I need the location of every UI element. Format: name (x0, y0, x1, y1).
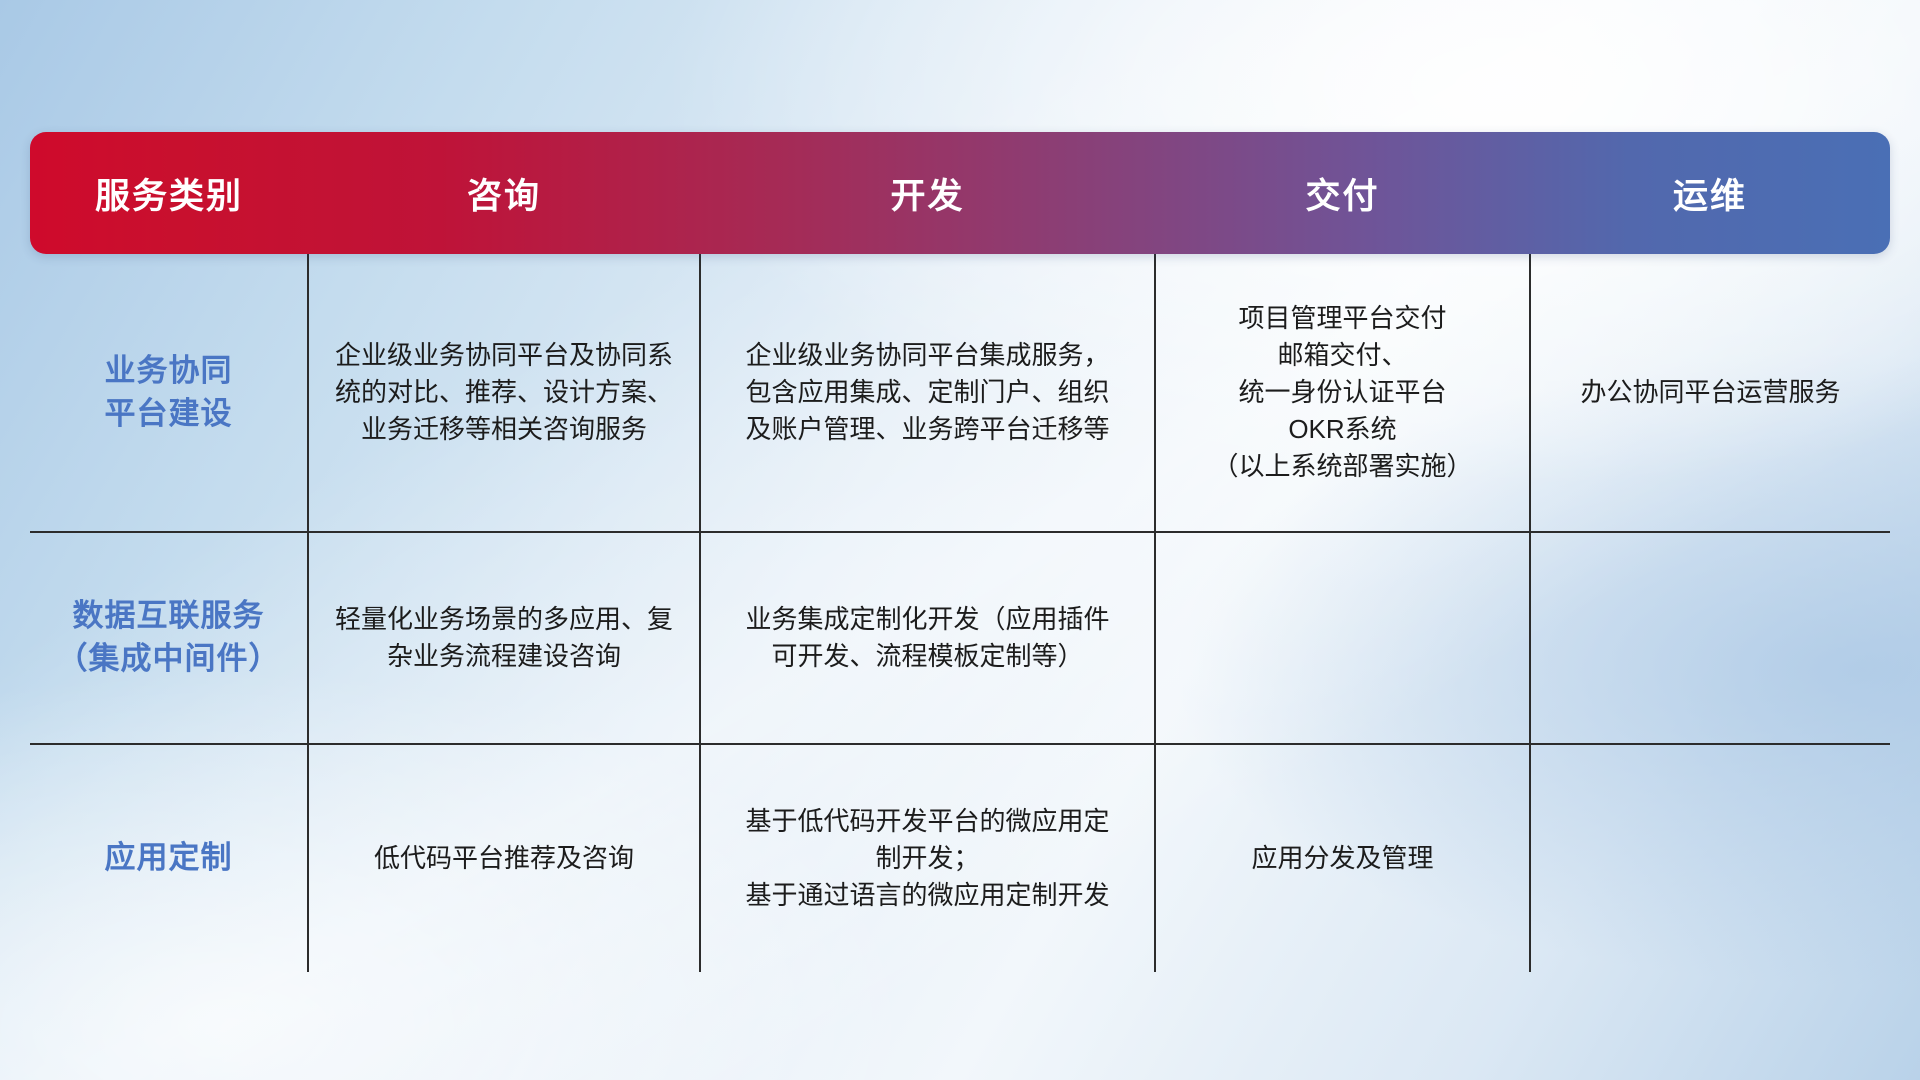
cell-category: 业务协同 平台建设 (30, 254, 308, 532)
cell-line: 包含应用集成、定制门户、组织 (715, 374, 1140, 411)
cell-development: 企业级业务协同平台集成服务， 包含应用集成、定制门户、组织 及账户管理、业务跨平… (700, 254, 1155, 532)
cell-line: 可开发、流程模板定制等） (715, 638, 1140, 675)
cell-development: 业务集成定制化开发（应用插件 可开发、流程模板定制等） (700, 532, 1155, 744)
column-header-operations: 运维 (1530, 132, 1890, 254)
cell-line: 低代码平台推荐及咨询 (323, 840, 685, 877)
cell-line: 基于通过语言的微应用定制开发 (715, 877, 1140, 914)
cell-line: （集成中间件） (44, 638, 293, 681)
cell-line: 数据互联服务 (44, 595, 293, 638)
cell-delivery: 应用分发及管理 (1155, 744, 1530, 972)
cell-line: （以上系统部署实施） (1170, 448, 1515, 485)
cell-line: 应用分发及管理 (1170, 840, 1515, 877)
cell-operations-empty (1530, 744, 1890, 972)
table-header: 服务类别 咨询 开发 交付 运维 (30, 132, 1890, 254)
cell-line: 制开发； (715, 840, 1140, 877)
cell-consulting: 企业级业务协同平台及协同系 统的对比、推荐、设计方案、 业务迁移等相关咨询服务 (308, 254, 700, 532)
column-header-delivery: 交付 (1155, 132, 1530, 254)
cell-line: 杂业务流程建设咨询 (323, 638, 685, 675)
cell-consulting: 轻量化业务场景的多应用、复 杂业务流程建设咨询 (308, 532, 700, 744)
service-matrix-container: 服务类别 咨询 开发 交付 运维 业务协同 平台建设 企业级业务协同平台及协同系… (30, 132, 1890, 952)
table-row: 业务协同 平台建设 企业级业务协同平台及协同系 统的对比、推荐、设计方案、 业务… (30, 254, 1890, 532)
cell-consulting: 低代码平台推荐及咨询 (308, 744, 700, 972)
cell-line: 业务协同 (44, 350, 293, 393)
cell-line: 企业级业务协同平台及协同系 (323, 337, 685, 374)
column-header-category: 服务类别 (30, 132, 308, 254)
cell-line: 邮箱交付、 (1170, 337, 1515, 374)
cell-line: 统一身份认证平台 (1170, 374, 1515, 411)
cell-delivery: 项目管理平台交付 邮箱交付、 统一身份认证平台 OKR系统 （以上系统部署实施） (1155, 254, 1530, 532)
column-header-consulting: 咨询 (308, 132, 700, 254)
cell-line: OKR系统 (1170, 411, 1515, 448)
cell-line: 应用定制 (44, 837, 293, 880)
cell-delivery-empty (1155, 532, 1530, 744)
cell-line: 业务迁移等相关咨询服务 (323, 411, 685, 448)
cell-line: 及账户管理、业务跨平台迁移等 (715, 411, 1140, 448)
cell-line: 平台建设 (44, 393, 293, 436)
table-row: 应用定制 低代码平台推荐及咨询 基于低代码开发平台的微应用定 制开发； 基于通过… (30, 744, 1890, 972)
cell-line: 统的对比、推荐、设计方案、 (323, 374, 685, 411)
column-header-development: 开发 (700, 132, 1155, 254)
cell-line: 办公协同平台运营服务 (1545, 374, 1876, 411)
header-row: 服务类别 咨询 开发 交付 运维 (30, 132, 1890, 254)
table-body: 业务协同 平台建设 企业级业务协同平台及协同系 统的对比、推荐、设计方案、 业务… (30, 254, 1890, 972)
cell-category: 应用定制 (30, 744, 308, 972)
service-matrix-table: 服务类别 咨询 开发 交付 运维 业务协同 平台建设 企业级业务协同平台及协同系… (30, 132, 1890, 972)
table-row: 数据互联服务 （集成中间件） 轻量化业务场景的多应用、复 杂业务流程建设咨询 业… (30, 532, 1890, 744)
cell-line: 企业级业务协同平台集成服务， (715, 337, 1140, 374)
cell-category: 数据互联服务 （集成中间件） (30, 532, 308, 744)
cell-development: 基于低代码开发平台的微应用定 制开发； 基于通过语言的微应用定制开发 (700, 744, 1155, 972)
cell-line: 业务集成定制化开发（应用插件 (715, 601, 1140, 638)
cell-line: 轻量化业务场景的多应用、复 (323, 601, 685, 638)
cell-line: 基于低代码开发平台的微应用定 (715, 803, 1140, 840)
cell-operations-empty (1530, 532, 1890, 744)
cell-line: 项目管理平台交付 (1170, 300, 1515, 337)
cell-operations: 办公协同平台运营服务 (1530, 254, 1890, 532)
